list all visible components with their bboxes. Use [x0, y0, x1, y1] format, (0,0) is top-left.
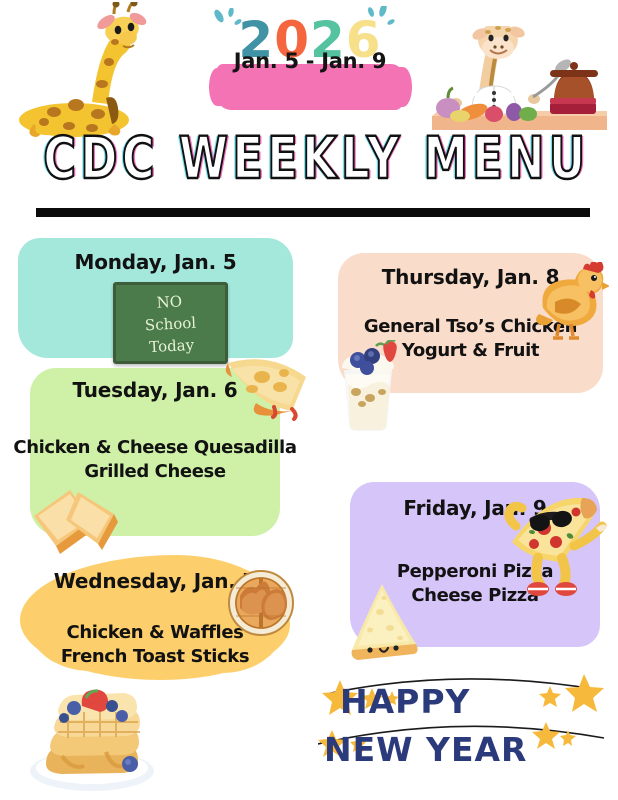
day-card-monday: Monday, Jan. 5 NO School Today [18, 238, 293, 358]
chalk-line-3: Today [117, 332, 227, 360]
menu-item: French Toast Sticks [20, 645, 290, 669]
french-toast-stack-icon [22, 672, 162, 792]
dabbing-pizza-character-icon [500, 490, 608, 602]
year-date-badge: 2026 Jan. 5 - Jan. 9 [215, 8, 405, 113]
chicken-and-waffle-plate-icon [228, 570, 294, 636]
giraffe-chef-cooking-icon [432, 0, 607, 140]
banner-line-new-year: NEW YEAR [324, 730, 527, 769]
day-items-tuesday: Chicken & Cheese Quesadilla Grilled Chee… [10, 436, 300, 484]
menu-item: Grilled Cheese [10, 460, 300, 484]
happy-new-year-banner: HAPPY NEW YEAR [318, 660, 608, 780]
hen-icon [533, 262, 609, 340]
menu-item: Chicken & Cheese Quesadilla [10, 436, 300, 460]
pizza-slice-icon [222, 355, 312, 421]
day-title-monday: Monday, Jan. 5 [18, 250, 293, 274]
weekly-menu-flyer: 2026 Jan. 5 - Jan. 9 CDC WEEKLY MENU Mon… [0, 0, 618, 800]
title-divider [36, 208, 590, 217]
grilled-cheese-icon [26, 486, 118, 556]
page-title: CDC WEEKLY MENU [43, 124, 574, 193]
cheese-slice-character-icon [342, 578, 422, 664]
banner-line-happy: HAPPY [340, 682, 470, 721]
date-range-label: Jan. 5 - Jan. 9 [215, 8, 405, 113]
yogurt-parfait-icon [332, 340, 404, 432]
giraffe-sitting-icon [14, 2, 164, 142]
chalkboard-icon: NO School Today [113, 282, 228, 364]
